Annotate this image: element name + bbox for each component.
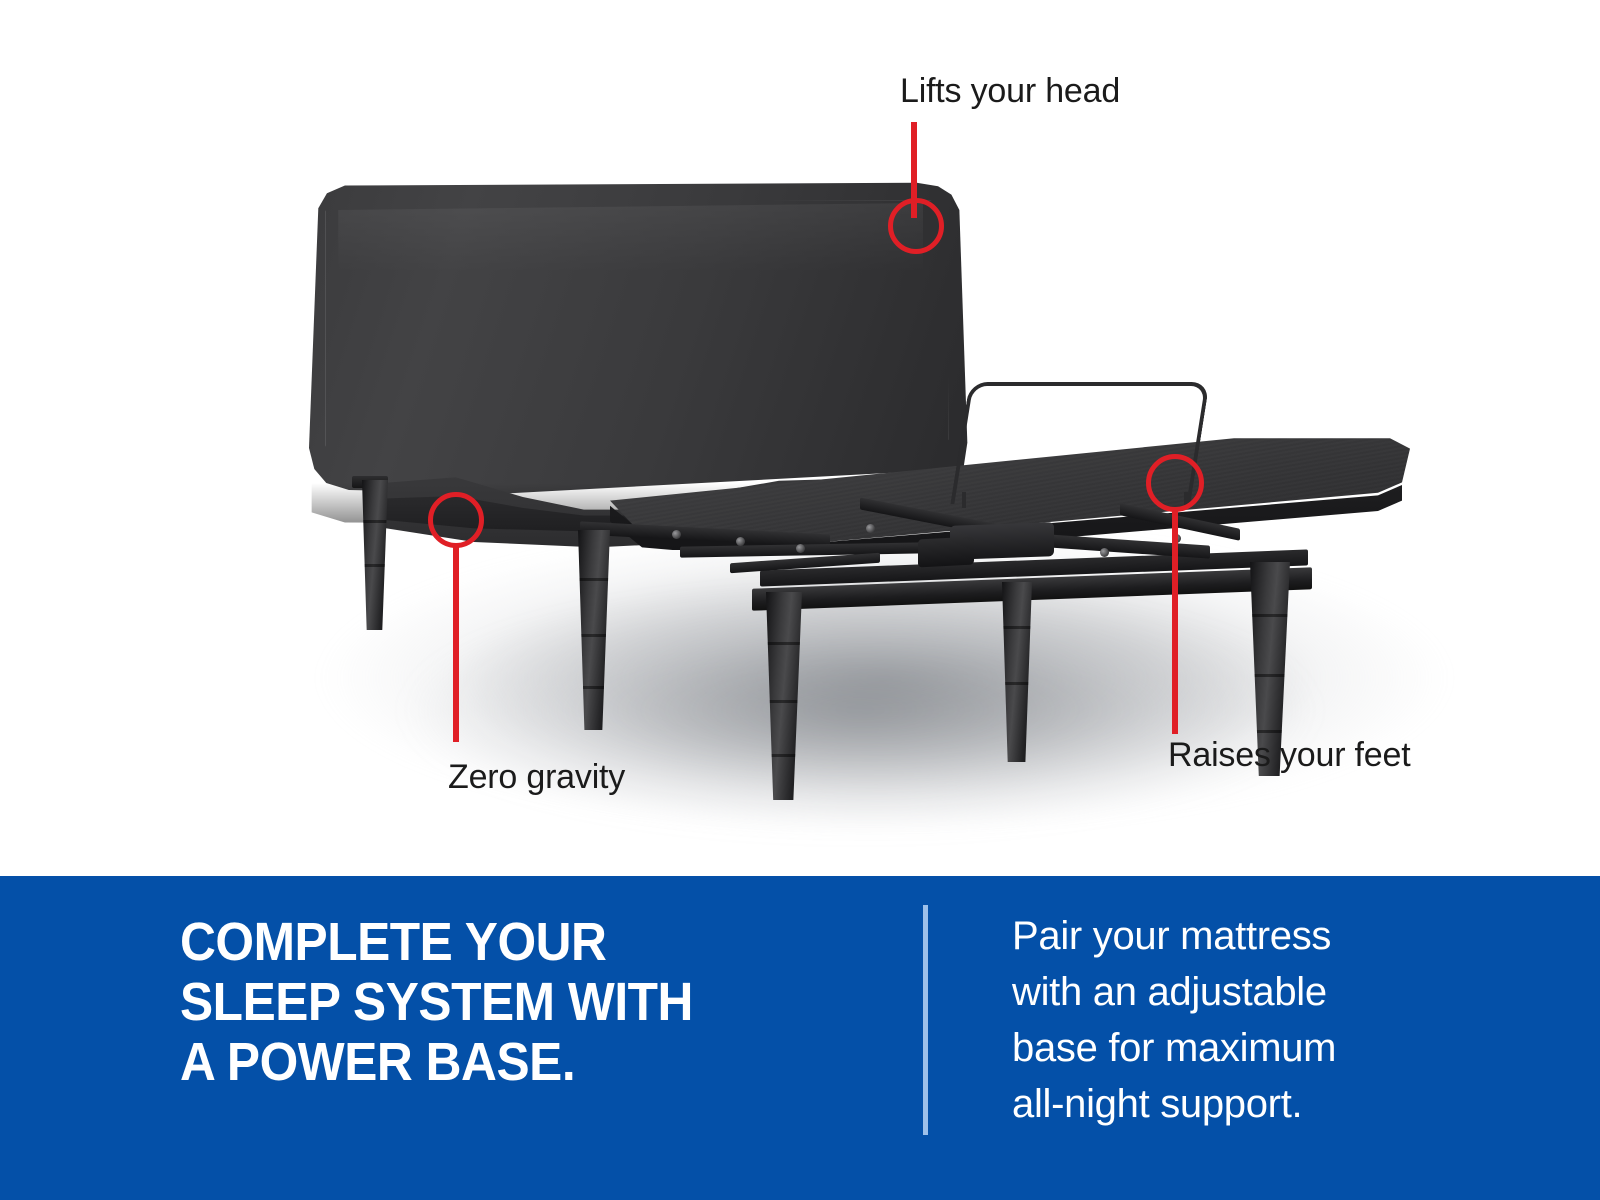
mechanism-bolt <box>672 530 681 539</box>
leg-band <box>578 634 610 637</box>
subcopy-line-4: all-night support. <box>1012 1076 1442 1132</box>
headline-line-2: SLEEP SYSTEM WITH <box>180 972 693 1032</box>
subcopy-line-3: base for maximum <box>1012 1020 1442 1076</box>
callout-ring-raises-feet <box>1146 454 1204 512</box>
subcopy-line-2: with an adjustable <box>1012 964 1442 1020</box>
banner-subcopy: Pair your mattress with an adjustable ba… <box>1012 908 1442 1132</box>
leg-band <box>1250 674 1290 677</box>
banner-divider <box>923 905 928 1135</box>
leg-rear-left <box>362 480 388 630</box>
leg-band <box>1002 682 1032 685</box>
leg-band <box>1250 614 1290 617</box>
promo-page: Lifts your head Zero gravity Raises your… <box>0 0 1600 1200</box>
subcopy-line-1: Pair your mattress <box>1012 908 1442 964</box>
mechanism-bolt <box>866 524 875 533</box>
callout-label-raises-feet: Raises your feet <box>1168 736 1410 775</box>
leg-band <box>1250 730 1290 733</box>
mechanism-bolt <box>796 544 805 553</box>
leg-band <box>362 564 388 567</box>
mechanism-arm-1 <box>580 521 830 547</box>
leg-band <box>766 642 802 645</box>
leg-band <box>578 578 610 581</box>
leg-front-left <box>578 530 610 730</box>
headline-line-3: A POWER BASE. <box>180 1032 693 1092</box>
leg-rear-center <box>1002 582 1032 762</box>
leg-band <box>766 754 802 757</box>
callout-line-raises-feet <box>1172 510 1178 734</box>
mechanism-bolt <box>736 537 745 546</box>
callout-ring-zero-gravity <box>428 492 484 548</box>
leg-band <box>362 520 388 523</box>
leg-band <box>1002 626 1032 629</box>
drive-motor-housing <box>918 537 974 568</box>
leg-front-center <box>766 592 802 800</box>
callout-label-zero-gravity: Zero gravity <box>448 758 625 797</box>
callout-label-lifts-head: Lifts your head <box>900 72 1120 111</box>
leg-band <box>766 700 802 703</box>
mechanism-bolt <box>1100 548 1109 557</box>
banner-headline: COMPLETE YOUR SLEEP SYSTEM WITH A POWER … <box>180 912 693 1092</box>
headline-line-1: COMPLETE YOUR <box>180 912 693 972</box>
hero-product-image: Lifts your head Zero gravity Raises your… <box>0 0 1600 876</box>
leg-band <box>578 686 610 689</box>
callout-line-zero-gravity <box>453 546 459 742</box>
head-panel-highlight <box>338 203 923 273</box>
callout-ring-lifts-head <box>888 198 944 254</box>
